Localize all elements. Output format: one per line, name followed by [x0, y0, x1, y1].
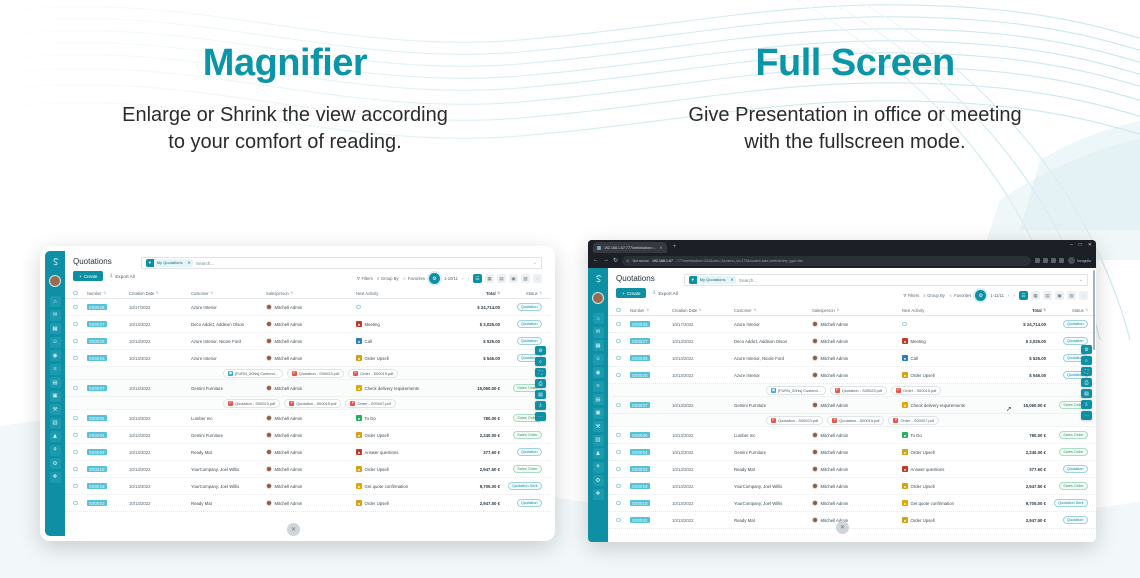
sidebar-item-reporting[interactable]: ≡ [593, 381, 604, 392]
checkbox-icon[interactable] [616, 322, 621, 327]
cell-number[interactable]: S00026 [630, 355, 672, 361]
attachment-chip[interactable]: PQuotation - S00015.pdf [284, 399, 341, 408]
sidebar-item-settings[interactable]: ⚙ [50, 458, 61, 469]
browser-tabstrip[interactable]: 192.168.1.67:777/web#action=... ✕ + – □ … [588, 240, 1096, 253]
column-header-creation_date[interactable]: Creation Date⇅ [129, 291, 191, 296]
export-all-button[interactable]: ⇩ Export All [652, 290, 677, 296]
column-header-customer[interactable]: Customer⇅ [734, 308, 812, 313]
cell-number[interactable]: S00003 [630, 466, 672, 472]
todo-icon: ● [902, 432, 908, 438]
group-by-button[interactable]: ≡ Group By [923, 293, 945, 298]
rail-save-button[interactable]: ▤ [1081, 389, 1092, 398]
cell-number[interactable]: S00026 [87, 338, 129, 344]
activity-clock-icon[interactable] [356, 305, 361, 310]
cell-number[interactable]: S00019 [87, 466, 129, 472]
avatar[interactable] [592, 292, 604, 304]
sidebar-item-purchase[interactable]: ▣ [593, 408, 604, 419]
cell-number[interactable]: S00019 [630, 483, 672, 489]
next-activity-label: Order Upsell [365, 501, 389, 506]
row-checkbox[interactable] [616, 484, 630, 489]
view-calendar-icon[interactable]: ▤ [497, 274, 506, 283]
pager-next-icon[interactable]: › [1013, 293, 1015, 298]
upsell-icon: ● [356, 432, 362, 438]
sidebar-icon-list[interactable]: ⌂✉▦☺◉≡▤▣⚒▥♟⚘⚙❖ [593, 313, 604, 500]
status-badge: Quotation Sent [1054, 499, 1088, 507]
cell-salesperson: Mitchell Admin [266, 466, 356, 472]
checkbox-icon[interactable] [616, 403, 621, 408]
attachment-chip-label: Order - S00007.pdf [900, 418, 933, 423]
search-bar[interactable]: ▼ My Quotations ✕ Search... ⌄ [141, 257, 542, 269]
cell-next-activity[interactable]: ●Check delivery requirements [902, 402, 988, 408]
reload-icon[interactable]: ↻ [613, 257, 618, 264]
pager-next-icon[interactable]: › [467, 276, 469, 281]
pdf-file-icon: P [771, 418, 776, 423]
attachment-chip[interactable]: PQuotation - S00023.pdf [830, 386, 887, 395]
attachment-chip[interactable]: PQuotation - S00023.pdf [766, 416, 823, 425]
cell-customer: Azure Interior [191, 305, 266, 310]
browser-nav-buttons[interactable]: ← → ↻ [593, 257, 618, 264]
search-bar[interactable]: ▼ My Quotations ✕ Search... ⌄ [684, 274, 1088, 286]
extension-icon[interactable] [1051, 258, 1056, 263]
view-activity-icon[interactable]: ◌ [533, 274, 542, 283]
rail-search-button[interactable]: ⌕ [535, 357, 546, 366]
checkbox-icon[interactable] [616, 373, 621, 378]
column-header-creation_date[interactable]: Creation Date⇅ [672, 308, 734, 313]
row-checkbox[interactable] [616, 518, 630, 523]
view-switcher[interactable]: ☰▦▤▣▧◌ [1019, 291, 1088, 300]
row-checkbox[interactable] [73, 450, 87, 455]
table-row[interactable]: S0001810/13/2022YourCompany, Joel Willis… [608, 495, 1096, 512]
create-button[interactable]: + Create [616, 288, 646, 298]
cell-salesperson: Mitchell Admin [266, 483, 356, 489]
close-icon[interactable]: ✕ [659, 245, 662, 250]
sidebar-item-inventory[interactable]: ▤ [50, 377, 61, 388]
checkbox-icon[interactable] [616, 518, 621, 523]
column-header-salesperson[interactable]: Salesperson⇅ [266, 291, 356, 296]
sidebar-item-accounting[interactable]: ▥ [593, 435, 604, 446]
rail-fullscreen-button[interactable]: ⛶ [1081, 367, 1092, 376]
attachment-chip-group[interactable]: ▣[FURN_00Ns] Customi...PQuotation - S000… [223, 369, 398, 378]
call-icon: ● [356, 338, 362, 344]
control-panel-toolbar[interactable]: ∇ Filters ≡ Group By ☆ Favorites ⚙ [357, 273, 542, 284]
cell-total: $ 546.00 [442, 356, 500, 361]
cell-next-activity[interactable]: ●Order Upsell [902, 483, 988, 489]
forward-icon[interactable]: → [603, 257, 609, 264]
row-checkbox[interactable] [616, 433, 630, 438]
table-body[interactable]: S0002810/17/2022Azure InteriorMitchell A… [608, 316, 1096, 529]
row-checkbox[interactable] [616, 501, 630, 506]
attachment-chip-group[interactable]: ▣[FURN_00Ns] Customi...PQuotation - S000… [766, 386, 941, 395]
checkbox-icon[interactable] [616, 484, 621, 489]
floating-action-rail[interactable]: ⚙⌕⛶⎙▤⇩⋯ [535, 346, 546, 421]
new-tab-button[interactable]: + [673, 242, 677, 253]
browser-tab[interactable]: 192.168.1.67:777/web#action=... ✕ [593, 242, 667, 253]
sort-icon: ⇅ [210, 291, 213, 295]
sidebar-icon-list[interactable]: ⌂✉▦☺◉≡▤▣⚒▥♟⚘⚙❖ [50, 296, 61, 483]
view-activity-icon[interactable]: ◌ [1079, 291, 1088, 300]
row-checkbox[interactable] [73, 386, 87, 391]
row-checkbox[interactable] [616, 450, 630, 455]
rail-print-button[interactable]: ⎙ [535, 379, 546, 388]
browser-url-row[interactable]: ← → ↻ ⚠ Not secure 192.168.1.67 :777/web… [588, 253, 1096, 268]
select-all-checkbox[interactable] [73, 291, 87, 296]
checkbox-icon[interactable] [73, 356, 78, 361]
rail-save-button[interactable]: ▤ [535, 390, 546, 399]
column-label: Salesperson [812, 308, 835, 313]
column-header-next_activity[interactable]: Next Activity [902, 308, 988, 313]
create-button[interactable]: + Create [73, 271, 103, 281]
sidebar-item-inventory[interactable]: ▤ [593, 394, 604, 405]
checkbox-icon[interactable] [73, 484, 78, 489]
incognito-label: Incognito [1077, 259, 1091, 263]
attachment-chip[interactable]: PQuotation - S00023.pdf [223, 399, 280, 408]
sidebar-item-employees[interactable]: ♟ [50, 431, 61, 442]
cell-number[interactable]: S00002 [87, 500, 129, 506]
favorites-button[interactable]: ☆ Favorites [403, 276, 426, 281]
cell-next-activity[interactable]: ●To Do [356, 415, 442, 421]
row-checkbox[interactable] [73, 484, 87, 489]
view-list-icon[interactable]: ☰ [473, 274, 482, 283]
extension-icon[interactable] [1043, 258, 1048, 263]
rail-print-button[interactable]: ⎙ [1081, 378, 1092, 387]
address-bar[interactable]: ⚠ Not secure 192.168.1.67 :777/web#actio… [622, 256, 1031, 266]
rail-export-button[interactable]: ⇩ [1081, 400, 1092, 409]
checkbox-icon[interactable] [73, 305, 78, 310]
cell-next-activity[interactable] [356, 305, 442, 310]
sidebar-item-discuss[interactable]: ✉ [50, 310, 61, 321]
sidebar-item-sales[interactable]: ◉ [593, 367, 604, 378]
view-switcher[interactable]: ☰▦▤▣▧◌ [473, 274, 542, 283]
sidebar-item-apps[interactable]: ❖ [50, 472, 61, 483]
rail-fullscreen-button[interactable]: ⛶ [535, 368, 546, 377]
pager-prev-icon[interactable]: ‹ [462, 276, 464, 281]
table-body[interactable]: S0002810/17/2022Azure InteriorMitchell A… [65, 299, 550, 512]
cell-number[interactable]: S00007 [87, 385, 129, 391]
sidebar-item-employees[interactable]: ♟ [593, 448, 604, 459]
filters-button[interactable]: ∇ Filters [903, 293, 919, 298]
column-header-salesperson[interactable]: Salesperson⇅ [812, 308, 902, 313]
table-row[interactable]: S0001910/13/2022YourCompany, Joel Willis… [65, 461, 550, 478]
minimize-icon[interactable]: – [1070, 242, 1073, 248]
column-header-total[interactable]: Total⇅ [442, 291, 500, 296]
sidebar-item-reporting[interactable]: ≡ [50, 364, 61, 375]
rail-more-button[interactable]: ⋯ [1081, 411, 1092, 420]
browser-tab-title: 192.168.1.67:777/web#action=... [604, 246, 656, 250]
view-pivot-icon[interactable]: ▣ [509, 274, 518, 283]
note-icon: ● [356, 385, 362, 391]
back-icon[interactable]: ← [593, 257, 599, 264]
cell-number[interactable]: S00003 [87, 449, 129, 455]
checkbox-icon[interactable] [73, 339, 78, 344]
row-checkbox[interactable] [73, 467, 87, 472]
sidebar-item-manufacturing[interactable]: ⚒ [593, 421, 604, 432]
cell-number[interactable]: S00025 [630, 372, 672, 378]
search-input[interactable]: Search... [739, 278, 1076, 283]
row-checkbox[interactable] [73, 416, 87, 421]
table-row[interactable]: S0000210/13/2022Ready MatMitchell Admin●… [608, 512, 1096, 529]
search-input[interactable]: Search... [196, 261, 530, 266]
sidebar-item-contacts[interactable]: ☺ [593, 354, 604, 365]
chevron-down-icon[interactable]: ⌄ [1079, 277, 1083, 283]
table-row[interactable]: S0000310/13/2022Ready MatMitchell Admin●… [65, 444, 550, 461]
attachment-chip[interactable]: PQuotation - S00015.pdf [827, 416, 884, 425]
avatar[interactable] [49, 275, 61, 287]
cell-number[interactable]: S00027 [630, 338, 672, 344]
attachment-chip[interactable]: ▣[FURN_00Ns] Customi... [766, 386, 826, 395]
chevron-down-icon[interactable]: ⌄ [533, 260, 537, 266]
page-title: Quotations [73, 257, 135, 266]
checkbox-icon[interactable] [73, 416, 78, 421]
next-activity-label: Order Upsell [911, 518, 935, 523]
rail-search-button[interactable]: ⌕ [1081, 356, 1092, 365]
column-header-total[interactable]: Total⇅ [988, 308, 1046, 313]
table-row[interactable]: S0000610/13/2022Lumber IncMitchell Admin… [608, 427, 1096, 444]
table-row[interactable]: S0000410/13/2022Gemini FurnitureMitchell… [65, 427, 550, 444]
attachment-chip-label: [FURN_00Ns] Customi... [235, 371, 278, 376]
attachment-chip[interactable]: POrder - S00007.pdf [345, 399, 395, 408]
sidebar-item-discuss[interactable]: ✉ [593, 327, 604, 338]
table-header-row: Number⇅Creation Date⇅Customer⇅Salesperso… [65, 288, 550, 299]
column-header-number[interactable]: Number⇅ [630, 308, 672, 313]
table-row[interactable]: S0002710/13/2022Deco Addict, Addison Ols… [65, 316, 550, 333]
sidebar-item-manufacturing[interactable]: ⚒ [50, 404, 61, 415]
magnifier-button[interactable]: ⚙ [429, 273, 440, 284]
attachment-chip[interactable]: POrder - S00015.pdf [348, 369, 398, 378]
checkbox-icon[interactable] [616, 450, 621, 455]
checkbox-icon[interactable] [616, 501, 621, 506]
checkbox-icon[interactable] [73, 501, 78, 506]
checkbox-icon[interactable] [616, 433, 621, 438]
quotation-number-label: S00018 [630, 500, 650, 506]
row-checkbox[interactable] [73, 305, 87, 310]
view-kanban-icon[interactable]: ▦ [1031, 291, 1040, 300]
view-list-icon[interactable]: ☰ [1019, 291, 1028, 300]
column-header-next_activity[interactable]: Next Activity [356, 291, 442, 296]
avatar [266, 500, 272, 506]
table-row[interactable]: S0000310/13/2022Ready MatMitchell Admin●… [608, 461, 1096, 478]
cell-number[interactable]: S00025 [87, 355, 129, 361]
maximize-icon[interactable]: □ [1079, 242, 1082, 248]
cell-number[interactable]: S00027 [87, 321, 129, 327]
sidebar-item-calendar[interactable]: ▦ [50, 323, 61, 334]
cell-next-activity[interactable]: ●Order Upsell [356, 432, 442, 438]
view-calendar-icon[interactable]: ▤ [1043, 291, 1052, 300]
table-row[interactable]: S0000710/13/2022Gemini FurnitureMitchell… [65, 380, 550, 397]
avatar[interactable] [1068, 257, 1075, 264]
checkbox-icon[interactable] [73, 450, 78, 455]
cell-number[interactable]: S00028 [87, 304, 129, 310]
row-checkbox[interactable] [73, 356, 87, 361]
activity-clock-icon[interactable] [902, 322, 907, 327]
row-checkbox[interactable] [616, 467, 630, 472]
filters-button[interactable]: ∇ Filters [357, 276, 373, 281]
cell-next-activity[interactable]: ●Call [902, 355, 988, 361]
close-overlay-button[interactable]: ✕ [287, 523, 300, 536]
cell-next-activity[interactable]: ●Order Upsell [902, 372, 988, 378]
cell-next-activity[interactable]: ●Order Upsell [902, 449, 988, 455]
attachment-chip[interactable]: POrder - S00007.pdf [888, 416, 938, 425]
attachment-chip[interactable]: POrder - S00015.pdf [891, 386, 941, 395]
vertical-scrollbar[interactable] [1093, 270, 1095, 350]
group-by-button[interactable]: ≡ Group By [377, 276, 399, 281]
search-facet-my-quotations[interactable]: ▼ My Quotations ✕ [146, 259, 193, 267]
row-checkbox[interactable] [616, 403, 630, 408]
meeting-icon: ● [356, 321, 362, 327]
sidebar-item-contacts[interactable]: ☺ [50, 337, 61, 348]
favorites-button[interactable]: ☆ Favorites [949, 293, 972, 298]
close-overlay-button[interactable]: ✕ [836, 521, 849, 534]
row-checkbox[interactable] [73, 501, 87, 506]
sidebar-item-accounting[interactable]: ▥ [50, 418, 61, 429]
attachment-chip-group[interactable]: PQuotation - S00023.pdfPQuotation - S000… [766, 416, 939, 425]
table-row[interactable]: S0000610/13/2022Lumber IncMitchell Admin… [65, 410, 550, 427]
column-header-customer[interactable]: Customer⇅ [191, 291, 266, 296]
sidebar-item-home[interactable]: ⌂ [50, 296, 61, 307]
cell-number[interactable]: S00007 [630, 402, 672, 408]
cell-total: 2,240.00 € [442, 433, 500, 438]
sidebar-item-home[interactable]: ⌂ [593, 313, 604, 324]
checkbox-icon[interactable] [616, 467, 621, 472]
view-graph-icon[interactable]: ▧ [1067, 291, 1076, 300]
browser-profile[interactable]: Incognito [1068, 257, 1091, 264]
cell-next-activity[interactable] [902, 322, 988, 327]
window-controls[interactable]: – □ ✕ [1070, 242, 1092, 248]
table-row[interactable]: S0002510/13/2022Azure InteriorMitchell A… [65, 350, 550, 367]
bookmark-star-icon[interactable] [1035, 258, 1040, 263]
cell-number[interactable]: S00006 [87, 415, 129, 421]
view-kanban-icon[interactable]: ▦ [485, 274, 494, 283]
row-checkbox[interactable] [616, 339, 630, 344]
cell-number[interactable]: S00006 [630, 432, 672, 438]
column-header-status[interactable]: Status⇅ [1046, 308, 1088, 313]
table-row[interactable]: S0000410/13/2022Gemini FurnitureMitchell… [608, 444, 1096, 461]
table-row[interactable]: S0002810/17/2022Azure InteriorMitchell A… [608, 316, 1096, 333]
salesperson-label: Mitchell Admin [821, 433, 849, 438]
checkbox-icon[interactable] [73, 322, 78, 327]
checkbox-icon[interactable] [616, 339, 621, 344]
attachment-chip-group[interactable]: PQuotation - S00023.pdfPQuotation - S000… [223, 399, 396, 408]
sidebar-item-purchase[interactable]: ▣ [50, 391, 61, 402]
magnifier-button[interactable]: ⚙ [975, 290, 986, 301]
row-checkbox[interactable] [616, 322, 630, 327]
row-checkbox[interactable] [73, 322, 87, 327]
table-row[interactable]: S0002610/13/2022Azure Interior, Nicole F… [608, 350, 1096, 367]
cell-number[interactable]: S00004 [630, 449, 672, 455]
sidebar-item-recruitment[interactable]: ⚘ [50, 445, 61, 456]
sidebar-item-apps[interactable]: ❖ [593, 489, 604, 500]
column-header-number[interactable]: Number⇅ [87, 291, 129, 296]
table-row[interactable]: S0002610/13/2022Azure Interior, Nicole F… [65, 333, 550, 350]
sidebar-item-sales[interactable]: ◉ [50, 350, 61, 361]
checkbox-icon[interactable] [616, 308, 621, 313]
checkbox-icon[interactable] [73, 386, 78, 391]
browser-extensions[interactable] [1035, 258, 1064, 263]
close-icon[interactable]: ✕ [186, 259, 193, 267]
sidebar-item-calendar[interactable]: ▦ [593, 340, 604, 351]
cell-next-activity[interactable]: ●Order Upsell [356, 355, 442, 361]
floating-action-rail[interactable]: ⚙⌕⛶⎙▤⇩⋯ [1081, 345, 1092, 420]
cell-next-activity[interactable]: ●To Do [902, 432, 988, 438]
attachment-chip[interactable]: PQuotation - S00023.pdf [287, 369, 344, 378]
table-row[interactable]: S0002710/13/2022Deco Addict, Addison Ols… [608, 333, 1096, 350]
extension-icon[interactable] [1059, 258, 1064, 263]
cell-next-activity[interactable]: ●Check delivery requirements [356, 385, 442, 391]
close-icon[interactable]: ✕ [1088, 242, 1092, 248]
table-row[interactable]: S0000210/13/2022Ready MatMitchell Admin●… [65, 495, 550, 512]
table-row[interactable]: S0002510/13/2022Azure InteriorMitchell A… [608, 367, 1096, 384]
column-label: Next Activity [356, 291, 378, 296]
s-logo-icon [48, 255, 63, 270]
cell-next-activity[interactable]: ●Get quote confirmation [356, 483, 442, 489]
view-pivot-icon[interactable]: ▣ [1055, 291, 1064, 300]
cell-next-activity[interactable]: ●Call [356, 338, 442, 344]
rail-export-button[interactable]: ⇩ [535, 401, 546, 410]
app-sidebar[interactable]: ⌂✉▦☺◉≡▤▣⚒▥♟⚘⚙❖ [45, 251, 65, 536]
row-checkbox[interactable] [616, 356, 630, 361]
sidebar-item-settings[interactable]: ⚙ [593, 475, 604, 486]
quotation-number-label: S00026 [630, 355, 650, 361]
table-row[interactable]: S0002810/17/2022Azure InteriorMitchell A… [65, 299, 550, 316]
row-checkbox[interactable] [616, 373, 630, 378]
select-all-checkbox[interactable] [616, 308, 630, 313]
cell-next-activity[interactable]: ●Order Upsell [356, 500, 442, 506]
rail-more-button[interactable]: ⋯ [535, 412, 546, 421]
cell-next-activity[interactable]: ●Get quote confirmation [902, 500, 988, 506]
table-row[interactable]: S0000710/13/2022Gemini FurnitureMitchell… [608, 397, 1096, 414]
sidebar-item-recruitment[interactable]: ⚘ [593, 462, 604, 473]
close-icon[interactable]: ✕ [729, 276, 736, 284]
row-checkbox[interactable] [73, 339, 87, 344]
checkbox-icon[interactable] [73, 467, 78, 472]
table-row[interactable]: S0001910/13/2022YourCompany, Joel Willis… [608, 478, 1096, 495]
cell-total: 780.00 € [988, 433, 1046, 438]
checkbox-icon[interactable] [73, 291, 78, 296]
column-label: Creation Date [129, 291, 154, 296]
cell-number[interactable]: S00018 [87, 483, 129, 489]
checkbox-icon[interactable] [616, 356, 621, 361]
row-checkbox[interactable] [73, 433, 87, 438]
attachment-chip[interactable]: ▣[FURN_00Ns] Customi... [223, 369, 283, 378]
cell-number[interactable]: S00002 [630, 517, 672, 523]
rail-settings-button[interactable]: ⚙ [535, 346, 546, 355]
table-row[interactable]: S0001810/13/2022YourCompany, Joel Willis… [65, 478, 550, 495]
cell-next-activity[interactable]: ●Answer questions [356, 449, 442, 455]
cell-customer: Gemini Furniture [191, 386, 266, 391]
checkbox-icon[interactable] [73, 433, 78, 438]
browser-screenshot-fullscreen: 192.168.1.67:777/web#action=... ✕ + – □ … [588, 240, 1096, 542]
column-header-status[interactable]: Status⇅ [500, 291, 542, 296]
cell-next-activity[interactable]: ●Meeting [902, 338, 988, 344]
cell-next-activity[interactable]: ●Meeting [356, 321, 442, 327]
rail-settings-button[interactable]: ⚙ [1081, 345, 1092, 354]
control-panel-toolbar[interactable]: ∇ Filters ≡ Group By ☆ Favorites ⚙ [903, 290, 1088, 301]
pager-prev-icon[interactable]: ‹ [1008, 293, 1010, 298]
export-all-button[interactable]: ⇩ Export All [109, 273, 134, 279]
app-sidebar[interactable]: ⌂✉▦☺◉≡▤▣⚒▥♟⚘⚙❖ [588, 268, 608, 542]
cell-number[interactable]: S00018 [630, 500, 672, 506]
cell-next-activity[interactable]: ●Order Upsell [902, 517, 988, 523]
cell-next-activity[interactable]: ●Answer questions [902, 466, 988, 472]
cell-creation-date: 10/13/2022 [129, 339, 191, 344]
cell-number[interactable]: S00004 [87, 432, 129, 438]
cell-number[interactable]: S00028 [630, 321, 672, 327]
avatar [812, 372, 818, 378]
view-graph-icon[interactable]: ▧ [521, 274, 530, 283]
search-facet-my-quotations[interactable]: ▼ My Quotations ✕ [689, 276, 736, 284]
avatar [812, 500, 818, 506]
avatar [266, 466, 272, 472]
cell-next-activity[interactable]: ●Order Upsell [356, 466, 442, 472]
